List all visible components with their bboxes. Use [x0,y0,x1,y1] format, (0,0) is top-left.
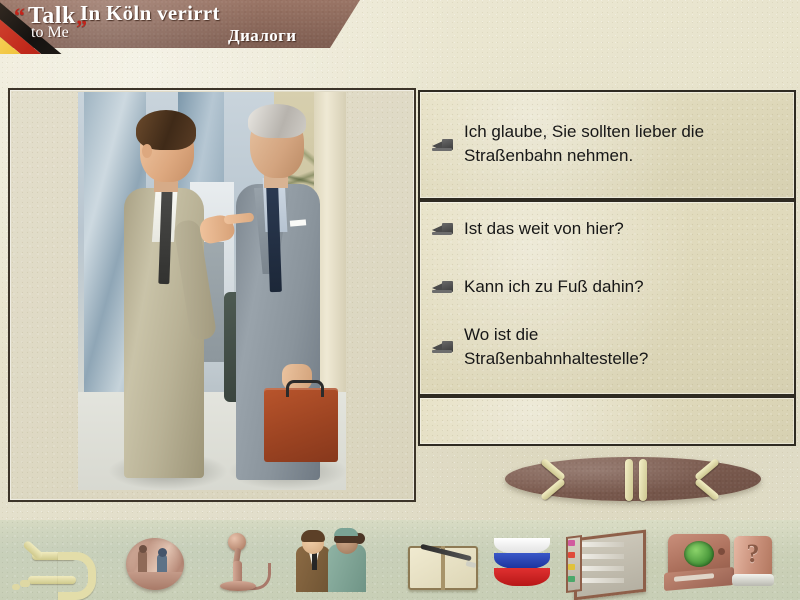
empty-response-panel[interactable] [418,396,796,446]
pause-icon [625,459,633,501]
question-mark-glyph: ? [732,539,774,569]
page-subtitle: Диалоги [228,26,297,46]
notes-button[interactable] [408,546,478,590]
scene-button[interactable] [126,538,184,590]
empty-panel-text [420,398,794,418]
speaker-icon[interactable] [432,341,454,354]
photo-frame [8,88,416,502]
pause-icon [639,459,647,501]
list-item[interactable]: Kann ich zu Fuß dahin? [420,272,794,302]
record-button[interactable] [214,533,264,591]
speaker-icon[interactable] [432,281,454,294]
lesson-button[interactable] [664,534,734,590]
previous-button[interactable] [533,457,579,501]
dialogue-button[interactable] [296,532,376,592]
vocabulary-button[interactable] [566,534,640,590]
translation-button[interactable] [494,536,550,588]
application-window: “ Talk to Me ” In Köln verirrt Диалоги [0,0,800,600]
reply-options-panel[interactable]: Ist das weit von hier? Kann ich zu Fuß d… [418,200,796,396]
next-button[interactable] [687,457,733,501]
playback-controls [505,457,761,501]
scene-disc-icon [126,538,184,590]
quote-open-mark: “ [14,5,25,27]
title-bar: “ Talk to Me ” In Köln verirrt Диалоги [0,0,800,52]
logo-line-2: to Me [31,24,69,42]
list-item[interactable]: Ist das weit von hier? [420,214,794,244]
back-button[interactable] [14,540,92,588]
reply-text-3: Wo ist die Straßenbahnhaltestelle? [464,323,648,371]
chevron-left-icon [539,462,569,496]
reply-text-1: Ist das weit von hier? [464,217,624,241]
list-item[interactable]: Wo ist die Straßenbahnhaltestelle? [420,320,794,374]
pause-button[interactable] [615,453,655,505]
reply-text-2: Kann ich zu Fuß dahin? [464,275,644,299]
speaker-icon[interactable] [432,139,454,152]
help-button[interactable]: ? [732,536,774,590]
utterance-text: Ich glaube, Sie sollten lieber die Straß… [464,120,784,170]
speaker-icon[interactable] [432,223,454,236]
page-title: In Köln verirrt [80,1,220,26]
dialogue-line[interactable]: Ich glaube, Sie sollten lieber die Straß… [420,92,794,198]
chevron-right-icon [693,462,723,496]
current-utterance-panel[interactable]: Ich glaube, Sie sollten lieber die Straß… [418,90,796,200]
scene-photo [78,92,346,490]
